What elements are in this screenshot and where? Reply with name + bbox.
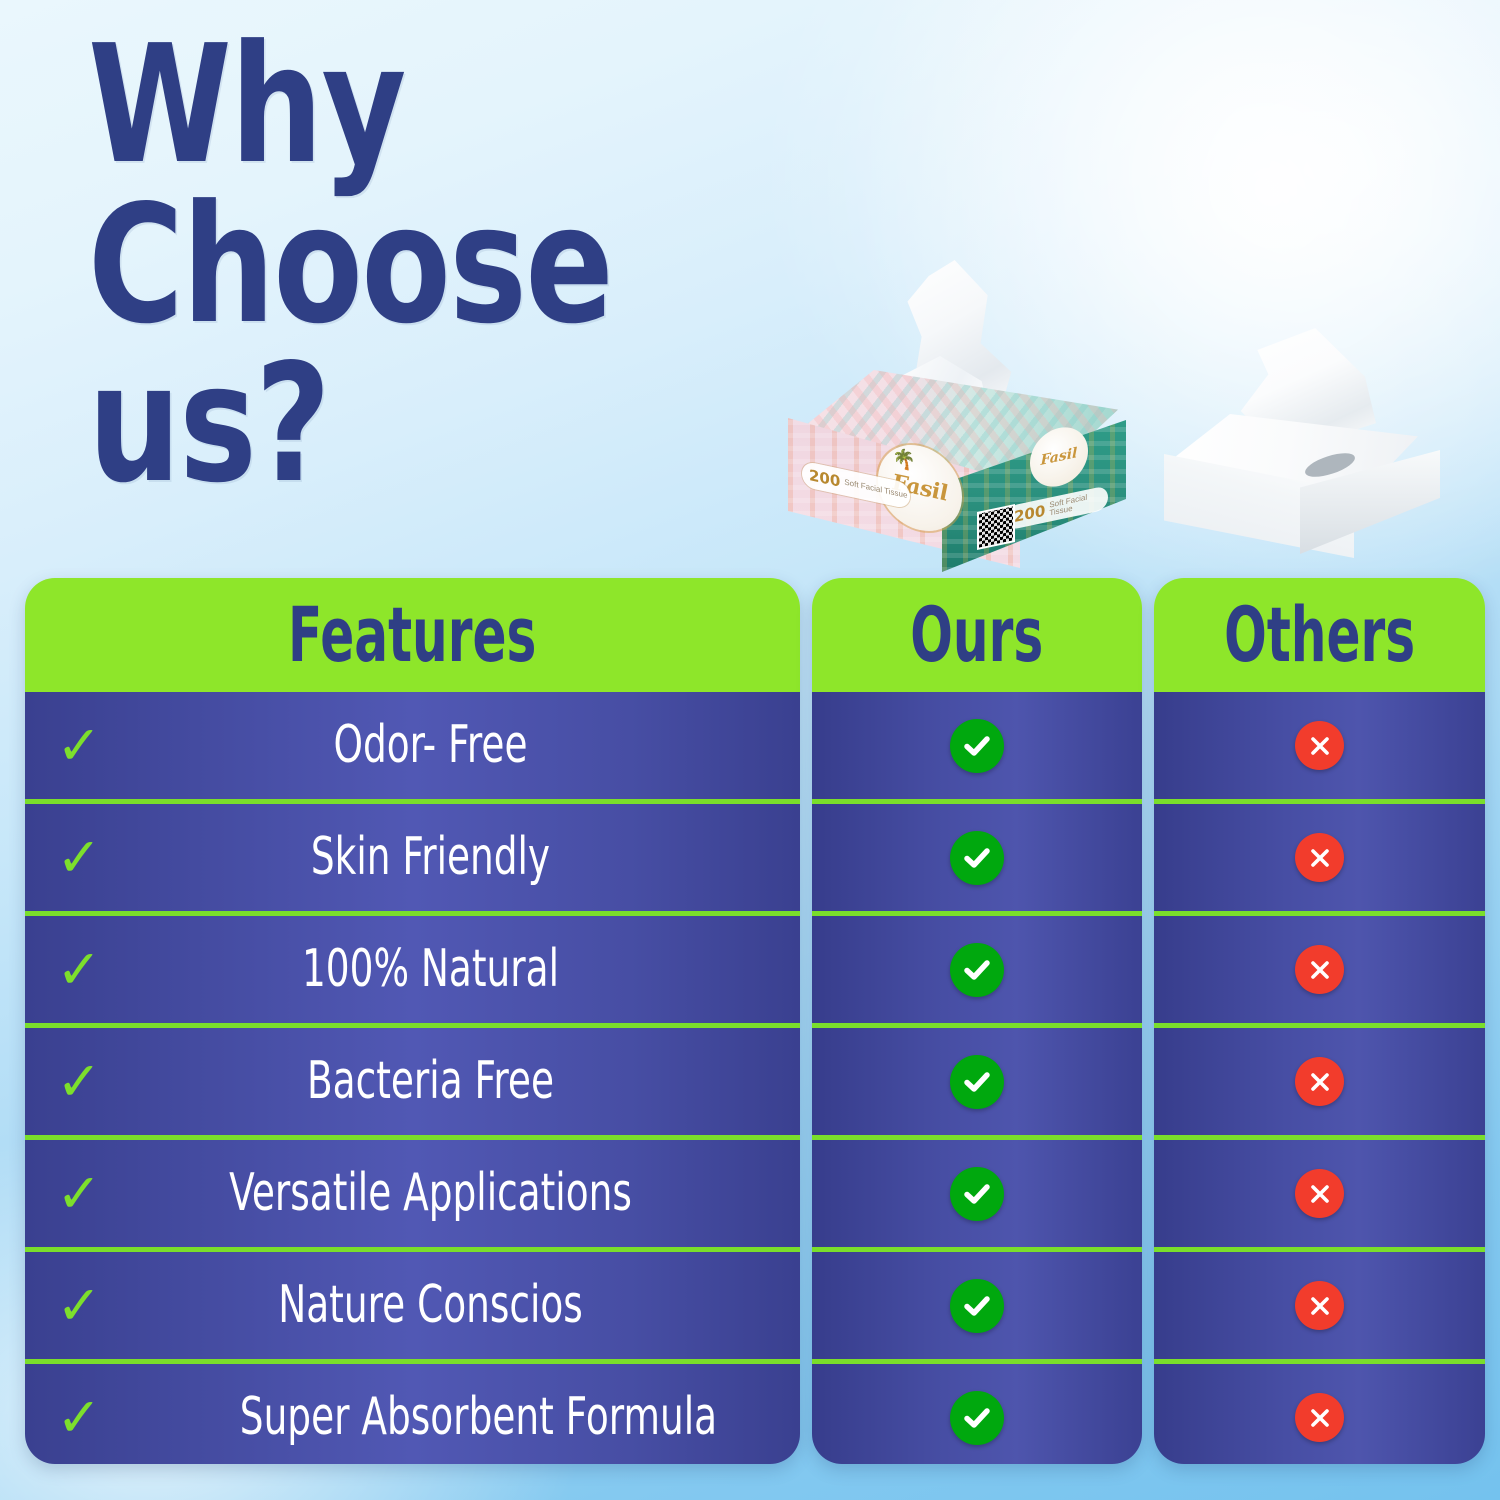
feature-label: Bacteria Free [226,1054,706,1109]
ours-header-label: Ours [911,597,1044,673]
table-row [1154,916,1485,1028]
x-circle-icon [1295,945,1344,994]
table-row [1154,1140,1485,1252]
ours-column-header: Ours [812,578,1142,692]
feature-label: Nature Conscios [226,1278,706,1333]
table-row: ✓100% Natural [25,916,800,1028]
check-circle-icon [950,1055,1004,1109]
check-circle-icon [950,1391,1004,1445]
ours-rows [812,692,1142,1464]
others-header-label: Others [1224,597,1415,673]
feature-label: Versatile Applications [226,1166,706,1221]
branded-tissue-box-image: 🌴 Fasil 200 Soft Facial Tissue Fasil 200… [780,260,1140,560]
feature-check-icon: ✓ [25,1055,133,1109]
x-circle-icon [1295,833,1344,882]
check-circle-icon [950,1279,1004,1333]
table-row: ✓Versatile Applications [25,1140,800,1252]
others-rows [1154,692,1485,1464]
table-row [1154,804,1485,916]
table-row [812,1028,1142,1140]
page-title: Why Choose us? [88,26,584,505]
x-circle-icon [1295,1057,1344,1106]
check-circle-icon [950,719,1004,773]
comparison-table: Features ✓Odor- Free✓Skin Friendly✓100% … [25,578,1485,1464]
table-row [812,916,1142,1028]
table-row [1154,1364,1485,1464]
features-rows: ✓Odor- Free✓Skin Friendly✓100% Natural✓B… [25,692,800,1464]
table-row [812,692,1142,804]
check-circle-icon [950,943,1004,997]
count-label: Soft Facial Tissue [844,478,907,500]
count-number: 200 [809,466,840,491]
feature-check-icon: ✓ [25,1391,133,1445]
feature-label: Skin Friendly [226,830,706,885]
table-row: ✓Nature Conscios [25,1252,800,1364]
others-column: Others [1154,578,1485,1464]
others-column-header: Others [1154,578,1485,692]
table-row [812,804,1142,916]
plain-tissue-box-image [1160,328,1450,568]
x-circle-icon [1295,1393,1344,1442]
x-circle-icon [1295,1169,1344,1218]
features-column: Features ✓Odor- Free✓Skin Friendly✓100% … [25,578,800,1464]
table-row [1154,1028,1485,1140]
features-header-label: Features [288,597,536,673]
product-images: 🌴 Fasil 200 Soft Facial Tissue Fasil 200… [760,250,1480,590]
count-number-side: 200 [1014,501,1045,526]
feature-check-icon: ✓ [25,1167,133,1221]
table-row [1154,1252,1485,1364]
table-row [812,1140,1142,1252]
table-row [1154,692,1485,804]
features-column-header: Features [25,578,800,692]
feature-label: 100% Natural [226,942,706,997]
check-circle-icon [950,1167,1004,1221]
feature-label: Super Absorbent Formula [240,1390,789,1445]
infographic-page: Why Choose us? 🌴 Fasil 200 Soft Facial T… [0,0,1500,1500]
ours-column: Ours [812,578,1142,1464]
table-row: ✓Super Absorbent Formula [25,1364,800,1464]
table-row [812,1364,1142,1464]
x-circle-icon [1295,721,1344,770]
table-row: ✓Bacteria Free [25,1028,800,1140]
check-circle-icon [950,831,1004,885]
table-row [812,1252,1142,1364]
feature-label: Odor- Free [226,718,706,773]
feature-check-icon: ✓ [25,719,133,773]
feature-check-icon: ✓ [25,943,133,997]
table-row: ✓Odor- Free [25,692,800,804]
palm-tree-icon: 🌴 [892,448,916,472]
feature-check-icon: ✓ [25,1279,133,1333]
table-row: ✓Skin Friendly [25,804,800,916]
feature-check-icon: ✓ [25,831,133,885]
x-circle-icon [1295,1281,1344,1330]
qr-code-icon [977,504,1015,550]
